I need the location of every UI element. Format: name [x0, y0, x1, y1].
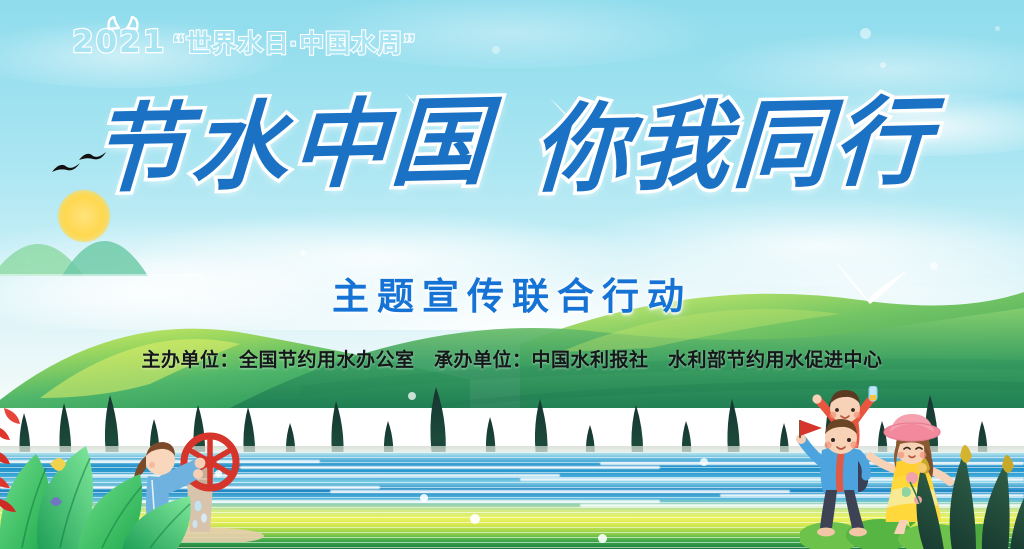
main-title-part-2: 你我同行 [531, 92, 936, 201]
reed-grass-icon [902, 424, 1024, 549]
ox-horns-icon [106, 15, 140, 31]
subtitle: 主题宣传联合行动 [0, 266, 1024, 320]
year-theme-badge: 2021 “世界水日·中国水周” [72, 24, 417, 60]
page-title: 节水中国 你我同行 [0, 96, 1024, 197]
theme-quote-label: “世界水日·中国水周” [172, 24, 416, 60]
bokeh-dot [492, 46, 500, 54]
organizer-credits: 主办单位：全国节约用水办公室 承办单位：中国水利报社 水利部节约用水促进中心 [0, 345, 1024, 372]
organizer-label: 主办单位：全国节约用水办公室 承办单位：中国水利报社 水利部节约用水促进中心 [141, 350, 882, 371]
subtitle-label: 主题宣传联合行动 [332, 276, 692, 317]
bokeh-dot [880, 62, 886, 68]
bokeh-dot [995, 26, 1000, 31]
bokeh-dot [860, 28, 871, 39]
water-day-poster: 2021 “世界水日·中国水周” 节水中国 你我同行 主题宣传联合行动 主办单位… [0, 0, 1024, 549]
tropical-leaves-icon [0, 402, 220, 549]
main-title-part-1: 节水中国 [88, 92, 493, 201]
